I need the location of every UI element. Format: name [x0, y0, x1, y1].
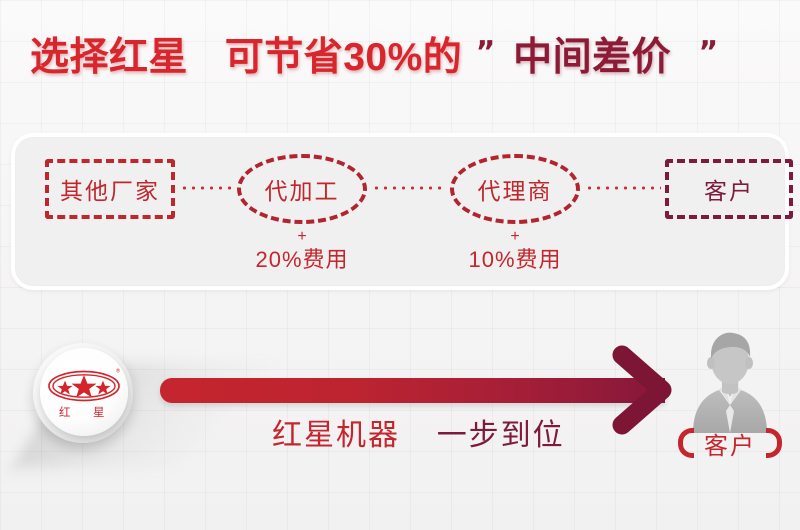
logo-char-left: 红 [59, 405, 71, 419]
direct-path-arrow-shaft [160, 378, 665, 403]
chain-node-label: 代加工 [265, 172, 340, 206]
headline-part-1: 选择红星 [30, 36, 188, 79]
fee-markup-agent: + 10%费用 [435, 229, 595, 273]
chain-node-customer: 客户 [665, 159, 793, 219]
arrow-head-icon [612, 345, 674, 435]
fee-markup-oem: + 20%费用 [222, 229, 382, 273]
logo-char-right: 星 [93, 405, 105, 419]
fee-amount: 20%费用 [222, 247, 382, 273]
customer-badge: 客户 [650, 424, 800, 462]
quote-open-icon: ” [476, 35, 496, 70]
connector-dotted-1 [180, 186, 234, 190]
chain-node-label: 其他厂家 [60, 172, 160, 206]
slogan: 红星机器 一步到位 [272, 410, 565, 454]
chain-node-label: 代理商 [478, 172, 553, 206]
connector-dotted-2 [372, 186, 446, 190]
businessman-avatar-icon [675, 325, 785, 433]
hongxing-logo-icon: ® 红 星 [47, 366, 121, 420]
supply-chain-panel: 其他厂家 代加工 代理商 客户 + 20%费用 + 10%费用 [11, 133, 789, 290]
bracket-left-icon [678, 428, 694, 458]
plus-sign-icon: + [222, 229, 382, 245]
plus-sign-icon: + [435, 229, 595, 245]
chain-node-agent: 代理商 [450, 154, 580, 224]
headline-part-2: 可节省30%的 [225, 36, 463, 79]
headline-emphasis: 中间差价 [513, 36, 671, 79]
slogan-part-2: 一步到位 [437, 419, 565, 452]
bracket-right-icon [766, 428, 782, 458]
chain-node-oem: 代加工 [237, 154, 367, 224]
fee-amount: 10%费用 [435, 247, 595, 273]
poster-canvas: 选择红星 可节省30%的 ” 中间差价 ” 其他厂家 代加工 代理商 客户 + … [0, 0, 800, 530]
slogan-part-1: 红星机器 [272, 419, 400, 452]
quote-close-icon: ” [699, 35, 719, 70]
page-title: 选择红星 可节省30%的 ” 中间差价 ” [30, 32, 719, 87]
customer-label: 客户 [704, 426, 756, 461]
chain-node-label: 客户 [704, 172, 754, 206]
connector-dotted-3 [585, 186, 661, 190]
registered-mark: ® [116, 368, 121, 375]
chain-node-other-factory: 其他厂家 [45, 159, 175, 219]
